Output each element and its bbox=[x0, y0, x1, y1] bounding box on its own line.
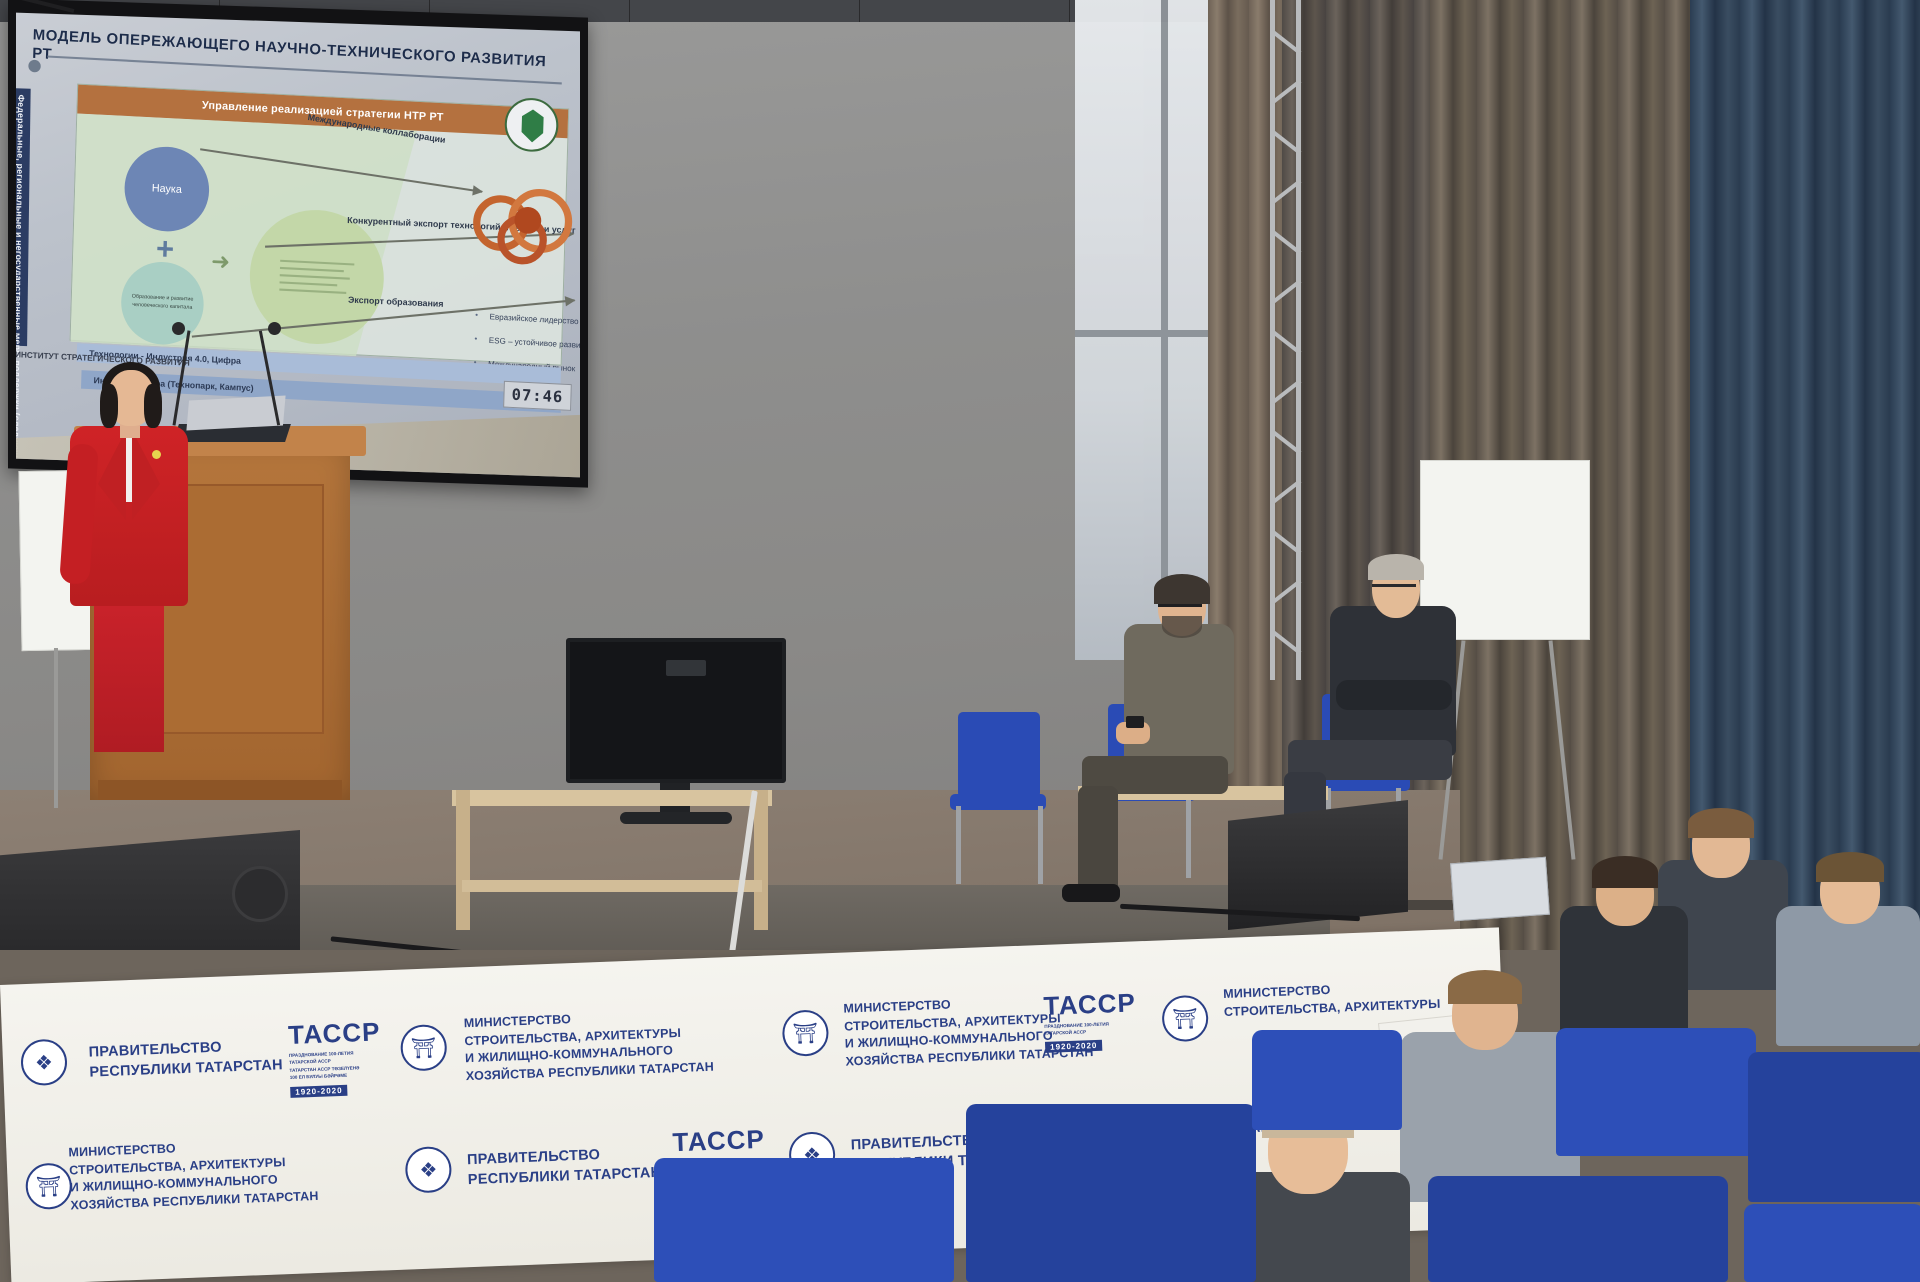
monitor-table-top bbox=[452, 790, 772, 806]
crest-icon: ⛩ bbox=[1161, 995, 1209, 1043]
tassr-subtitle-ru: ПРАЗДНОВАНИЕ 100-ЛЕТИЯ ТАТАРСКОЙ АССР bbox=[289, 1049, 382, 1066]
panelist1-shoe bbox=[1062, 884, 1120, 902]
panelist1-beard bbox=[1162, 616, 1202, 638]
press-wall-ministry-text: МИНИСТЕРСТВО СТРОИТЕЛЬСТВА, АРХИТЕКТУРЫ bbox=[1223, 978, 1441, 1021]
bullet-item: ESG – устойчивое развитие bbox=[474, 335, 580, 351]
panelist2-glasses-icon bbox=[1372, 584, 1416, 587]
panelist1-glasses-icon bbox=[1158, 604, 1202, 607]
speaker-hair-side-left bbox=[100, 384, 118, 428]
monitor-table-shelf bbox=[462, 880, 762, 892]
tassr-wordmark: ТАССР bbox=[1043, 987, 1136, 1022]
tassr-logo-block: ТАССР ПРАЗДНОВАНИЕ 100-ЛЕТИЯ ТАТАРСКОЙ А… bbox=[288, 1016, 383, 1099]
monitor-table-leg-left bbox=[456, 790, 470, 930]
audience-chair bbox=[1428, 1176, 1728, 1282]
lighting-truss bbox=[1270, 0, 1302, 680]
panelist1-phone bbox=[1126, 716, 1144, 728]
microphone-head-right bbox=[268, 322, 281, 335]
audience-chair bbox=[966, 1104, 1256, 1282]
crest-icon: ⛩ bbox=[782, 1009, 830, 1057]
flipchart-left-leg bbox=[54, 648, 58, 808]
tassr-wordmark: ТАССР bbox=[672, 1124, 765, 1159]
tassr-years-badge: 1920-2020 bbox=[1045, 1040, 1103, 1053]
tassr-subtitle-tt: ТАТАРСТАН АССР ТӨЗЕЛҮЕНӘ 100 ЕЛ БУЛУЫ БӘ… bbox=[289, 1065, 382, 1082]
audience-chair bbox=[1252, 1030, 1402, 1130]
speaker-hair-side-right bbox=[144, 384, 162, 428]
speaker-legs bbox=[94, 602, 164, 752]
tassr-years-badge: 1920-2020 bbox=[290, 1084, 348, 1097]
crest-icon: ❖ bbox=[20, 1039, 68, 1087]
audience-chair bbox=[1748, 1052, 1920, 1202]
panelist2-hair bbox=[1368, 554, 1424, 580]
panelist1-hair bbox=[1154, 574, 1210, 604]
target-rings-graphic bbox=[472, 186, 580, 279]
podium-laptop-screen bbox=[186, 396, 285, 431]
speaker-lapel-badge bbox=[152, 450, 161, 459]
speaker-at-podium bbox=[70, 380, 190, 680]
tassr-logo-block: ТАССР ПРАЗДНОВАНИЕ 100-ЛЕТИЯ ТАТАРСКОЙ А… bbox=[1043, 987, 1138, 1055]
crest-icon: ❖ bbox=[405, 1146, 453, 1194]
slide-left-vertical-label: Федеральные, региональные и негосударств… bbox=[16, 88, 31, 346]
tassr-wordmark: ТАССР bbox=[288, 1016, 381, 1051]
center-circle-text-lines bbox=[279, 255, 354, 300]
speaker-grille-left bbox=[232, 866, 288, 922]
bullet-item: Евразийское лидерство bbox=[475, 311, 580, 327]
conference-hall-scene: МОДЕЛЬ ОПЕРЕЖАЮЩЕГО НАУЧНО-ТЕХНИЧЕСКОГО … bbox=[0, 0, 1920, 1282]
panelist2-crossed-arms bbox=[1336, 680, 1452, 710]
monitor-brand-logo bbox=[666, 660, 706, 676]
podium-base bbox=[98, 780, 342, 800]
audience-laptop-1 bbox=[1450, 857, 1550, 922]
press-wall-ministry-text: МИНИСТЕРСТВО СТРОИТЕЛЬСТВА, АРХИТЕКТУРЫ … bbox=[68, 1135, 319, 1214]
presentation-timer: 07:46 bbox=[503, 381, 572, 411]
monitor-table-leg-right bbox=[754, 790, 768, 930]
confidence-monitor-screen bbox=[566, 638, 786, 783]
press-wall-government-text: ПРАВИТЕЛЬСТВО РЕСПУБЛИКИ ТАТАРСТАН bbox=[467, 1144, 662, 1191]
slide-left-vertical-band: Федеральные, региональные и негосударств… bbox=[16, 88, 31, 346]
panelist1-leg-lower bbox=[1078, 786, 1118, 896]
panelist1-torso bbox=[1124, 624, 1234, 774]
press-wall-government-text: ПРАВИТЕЛЬСТВО РЕСПУБЛИКИ ТАТАРСТАН bbox=[88, 1036, 283, 1083]
microphone-head-left bbox=[172, 322, 185, 335]
audience-chair bbox=[1556, 1028, 1756, 1156]
tassr-subtitle-ru: ПРАЗДНОВАНИЕ 100-ЛЕТИЯ ТАТАРСКОЙ АССР bbox=[1044, 1020, 1137, 1037]
audience-chair bbox=[654, 1158, 954, 1282]
monitor-foot bbox=[620, 812, 732, 824]
crest-icon: ⛩ bbox=[400, 1024, 448, 1072]
crest-icon: ⛩ bbox=[25, 1162, 73, 1210]
inner-arrow-icon: ➜ bbox=[211, 248, 231, 276]
press-wall-ministry-text: МИНИСТЕРСТВО СТРОИТЕЛЬСТВА, АРХИТЕКТУРЫ … bbox=[464, 1006, 715, 1085]
audience-chair bbox=[1744, 1204, 1920, 1282]
